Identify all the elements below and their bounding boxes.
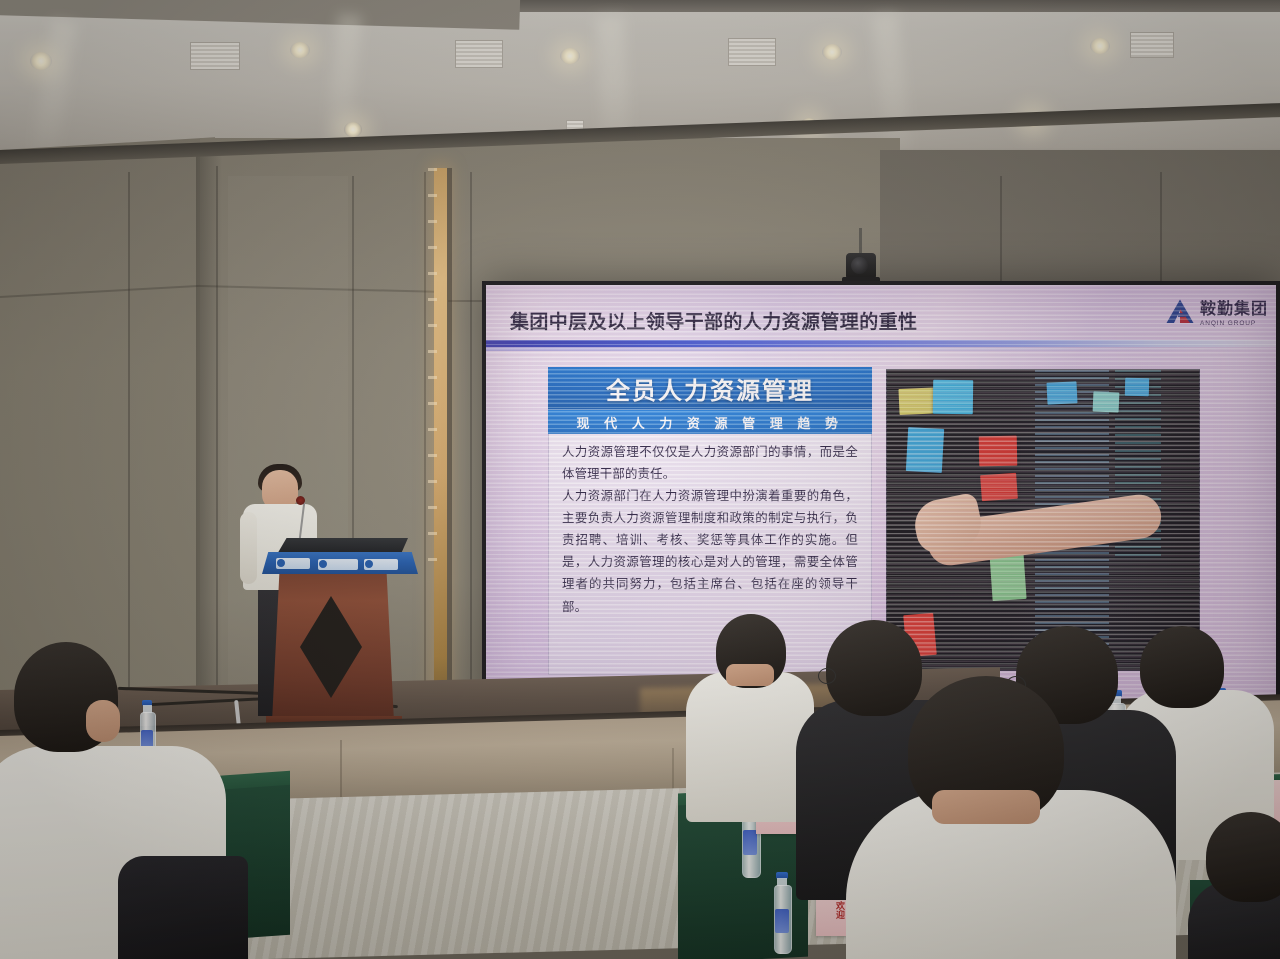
microphone-icon — [296, 496, 305, 505]
logo-text-cn: 鞍勤集团 — [1200, 295, 1268, 319]
slide-box-heading-text: 全员人力资源管理 — [606, 371, 814, 406]
ceiling-downlight — [290, 42, 310, 58]
slide-box-subheading-text: 现 代 人 力 资 源 管 理 趋 势 — [576, 413, 843, 432]
attendee-neck — [932, 790, 1040, 824]
attendee-head — [826, 620, 922, 716]
ceiling-air-vent — [1130, 32, 1174, 58]
slide-box-heading: 全员人力资源管理 — [548, 367, 872, 409]
glasses-icon — [818, 668, 836, 684]
podium-badge-icon — [319, 560, 327, 568]
ceiling-downlight — [1090, 38, 1110, 54]
ceiling-downlight — [560, 48, 580, 64]
wall-seam — [424, 172, 426, 712]
stage-light-pole — [859, 228, 862, 256]
slide-title-text: 集团中层及以上领导干部的人力资源管理的重性 — [510, 307, 917, 334]
wall-left — [0, 137, 215, 710]
attendee-trousers — [118, 856, 248, 959]
attendee-head — [1140, 626, 1224, 708]
anqin-logo-icon — [1165, 298, 1195, 325]
ceiling-downlight — [822, 44, 842, 60]
wall-seam — [470, 172, 472, 712]
attendee-neck — [726, 664, 774, 686]
attendee-hand — [86, 700, 120, 742]
wall-light-strip-edge — [447, 168, 452, 723]
attendee-head — [1206, 812, 1280, 902]
photo-scanline-overlay — [887, 370, 1199, 670]
wall-seam — [128, 172, 130, 692]
slide-paragraph-2: 人力资源部门在人力资源管理中扮演着重要的角色，主要负责人力资源管理制度和政策的制… — [562, 485, 858, 617]
name-tent-text: 欢迎 — [834, 901, 844, 919]
podium-badge-icon — [277, 559, 285, 567]
logo-text-en: ANQIN GROUP — [1200, 320, 1268, 327]
slide-photo — [886, 369, 1200, 671]
water-bottle — [774, 872, 790, 952]
slide-body-text: 人力资源管理不仅仅是人力资源部门的事情，而是全体管理干部的责任。 人力资源部门在… — [552, 435, 868, 673]
slide-title-rule — [486, 340, 1276, 347]
attendee-body — [686, 672, 814, 822]
company-logo: 鞍勤集团 ANQIN GROUP — [1165, 295, 1268, 327]
speaker-arm — [240, 512, 257, 584]
conference-room-photo: 集团中层及以上领导干部的人力资源管理的重性 鞍勤集团 ANQIN GROUP — [0, 0, 1280, 959]
bottle-label — [775, 909, 788, 933]
wall-corner-shadow — [196, 150, 222, 740]
wall-light-strip-speckle — [428, 168, 437, 568]
moving-head-lens — [851, 257, 868, 274]
ceiling-soffit — [0, 0, 521, 30]
ceiling-air-vent — [728, 38, 776, 66]
slide-paragraph-1: 人力资源管理不仅仅是人力资源部门的事情，而是全体管理干部的责任。 — [562, 441, 858, 485]
ceiling-air-vent — [455, 40, 503, 68]
ceiling-air-vent — [190, 42, 240, 70]
slide-title: 集团中层及以上领导干部的人力资源管理的重性 — [510, 303, 1130, 337]
slide-title-rule-glow — [486, 347, 1276, 351]
wall-seam — [216, 166, 218, 696]
slide-box-subheading: 现 代 人 力 资 源 管 理 趋 势 — [548, 409, 872, 434]
